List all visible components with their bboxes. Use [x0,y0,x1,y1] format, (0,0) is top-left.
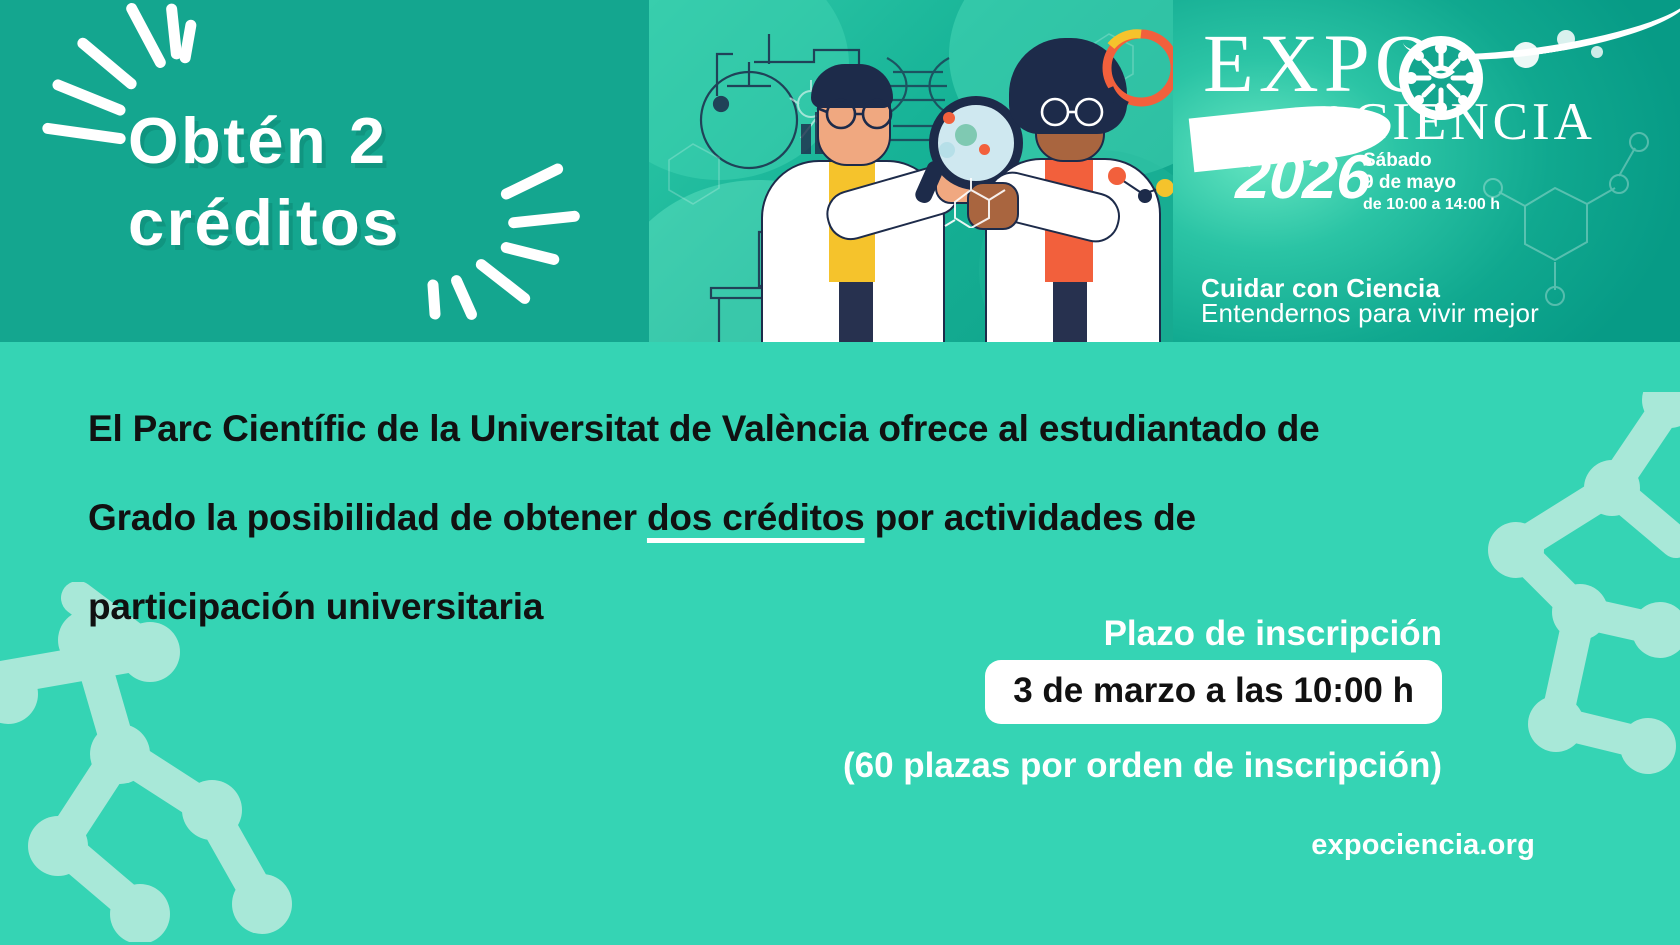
germ-dot-icon [1591,46,1603,58]
scientist-left-glasses-icon [815,96,935,136]
starburst-ray-icon [42,122,127,145]
starburst-ray-icon [124,1,168,70]
small-molecule-icon [941,168,1031,228]
magnifier-cell [943,112,955,124]
molecule-badge-icon [1105,166,1173,226]
magnifier-cell [939,142,955,158]
starburst-ray-icon [474,257,533,306]
magnifier-cell [955,124,977,146]
expociencia-logo-block: EXPO [1173,0,1680,342]
enrollment-label: Plazo de inscripción [1104,614,1442,654]
petri-ring-icon [1097,24,1173,114]
headline-line-2: créditos [128,182,598,264]
scientist-right-trousers [1053,282,1087,342]
starburst-ray-icon [179,19,197,64]
logo-date-block: Sábado 9 de mayo de 10:00 a 14:00 h [1363,150,1500,216]
headline: Obtén 2 créditos [128,100,598,264]
logo-day: Sábado [1363,150,1500,172]
logo-year: 2026 [1234,147,1371,209]
starburst-ray-icon [427,279,441,320]
germ-dot-icon [1321,106,1347,132]
logo-ciencia-text: CIENCIA [1353,96,1596,149]
website-url[interactable]: expociencia.org [1311,829,1535,862]
germ-dot-icon [1513,42,1539,68]
body-area: El Parc Científic de la Universitat de V… [0,342,1680,945]
starburst-ray-icon [51,78,127,117]
enrollment-date-pill: 3 de marzo a las 10:00 h [985,660,1442,724]
logo-date: 9 de mayo [1363,172,1500,194]
germ-dot-icon [1557,30,1575,48]
body-paragraph: El Parc Científic de la Universitat de V… [88,384,1418,651]
headline-panel: Obtén 2 créditos [0,0,649,342]
paragraph-highlight: dos créditos [647,497,865,538]
poster-root: Obtén 2 créditos [0,0,1680,945]
germ-dot-icon [1287,128,1295,136]
molecule-decoration-right [1460,392,1680,812]
header-band: Obtén 2 créditos [0,0,1680,342]
tagline-line-2: Entendernos para vivir mejor [1201,298,1539,329]
magnifier-cell [979,144,990,155]
starburst-ray-icon [449,273,479,321]
enrollment-note: (60 plazas por orden de inscripción) [843,746,1442,786]
germ-dot-icon [1301,116,1313,128]
logo-hours: de 10:00 a 14:00 h [1363,194,1500,216]
scientists-illustration [649,0,1173,342]
scientist-left-trousers [839,282,873,342]
headline-line-1: Obtén 2 [128,104,387,177]
starburst-ray-icon [75,36,139,92]
